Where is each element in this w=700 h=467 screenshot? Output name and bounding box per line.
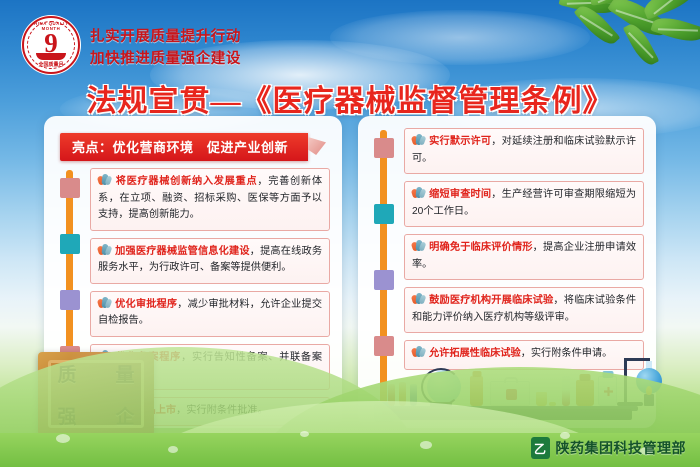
capsule-pill-icon bbox=[412, 346, 425, 357]
orange-flask-icon bbox=[470, 376, 483, 406]
slogan-line-1: 扎实开展质量提升行动 bbox=[90, 26, 241, 48]
ribbon-tail-decoration bbox=[308, 137, 326, 155]
flask-cap bbox=[472, 371, 481, 377]
white-medicine-bottle-icon bbox=[598, 376, 617, 406]
capsule-pill-icon bbox=[412, 187, 425, 198]
flask-on-stand-icon bbox=[624, 358, 666, 406]
policy-item-lead: 优化审批程序 bbox=[115, 299, 177, 310]
emblem-chinese-text: 全国质量月 bbox=[24, 61, 78, 68]
policy-item-lead: 加强医疗器械监管信息化建设 bbox=[115, 246, 250, 257]
highlight-ribbon-label: 亮点：优化营商环境 促进产业创新 bbox=[60, 133, 308, 161]
seal-characters: 质 量 强 企 bbox=[38, 352, 154, 436]
policy-item-card: 明确免于临床评价情形，提高企业注册申请效率。 bbox=[404, 234, 644, 280]
kit-cross-icon bbox=[506, 389, 517, 400]
capsule-pill-icon bbox=[98, 244, 111, 255]
right-item-list: 实行默示许可，对延续注册和临床试验默示许可。缩短审查时间，生产经营许可审查期限缩… bbox=[404, 128, 644, 377]
emblem-swoosh bbox=[36, 53, 66, 60]
policy-item-lead: 实行默示许可 bbox=[429, 136, 491, 147]
flame-icon bbox=[646, 386, 652, 395]
globe-icon bbox=[424, 370, 466, 406]
timeline-node bbox=[374, 138, 394, 158]
policy-item-lead: 明确免于临床评价情形 bbox=[429, 242, 533, 253]
green-leaves-decoration bbox=[556, 0, 700, 78]
seal-char-1: 质 bbox=[57, 360, 76, 387]
stone-seal-decoration: 质 量 强 企 bbox=[38, 352, 154, 436]
burner bbox=[644, 394, 654, 406]
capsule-pill-icon bbox=[412, 240, 425, 251]
timeline-node bbox=[374, 204, 394, 224]
globe-arc bbox=[421, 368, 461, 406]
seal-char-3: 强 bbox=[57, 402, 76, 429]
test-tube-icon bbox=[399, 382, 406, 406]
loose-pill-icon bbox=[549, 402, 556, 406]
right-content-panel: 实行默示许可，对延续注册和临床试验默示许可。缩短审查时间，生产经营许可审查期限缩… bbox=[358, 116, 656, 428]
company-logo-icon: 乙 bbox=[531, 437, 550, 459]
slogan-block: 扎实开展质量提升行动 加快推进质量强企建设 bbox=[90, 26, 241, 71]
timeline-node bbox=[374, 336, 394, 356]
policy-item-card: 加强医疗器械监管信息化建设，提高在线政务服务水平，为行政许可、备案等提供便利。 bbox=[90, 238, 330, 284]
highlight-ribbon: 亮点：优化营商环境 促进产业创新 bbox=[60, 133, 308, 161]
policy-item-card: 将医疗器械创新纳入发展重点，完善创新体系，在立项、融资、招标采购、医保等方面予以… bbox=[90, 168, 330, 231]
blood-sample-tube-icon bbox=[562, 376, 570, 406]
policy-item-card: 优化审批程序，减少审批材料，允许企业提交自检报告。 bbox=[90, 291, 330, 337]
stand-base bbox=[617, 402, 643, 406]
capsule-pill-icon bbox=[98, 174, 111, 185]
capsule-pill-icon bbox=[412, 293, 425, 304]
timeline-node bbox=[60, 178, 80, 198]
slogan-line-2: 加快推进质量强企建设 bbox=[90, 48, 241, 70]
bottle-cap bbox=[580, 374, 591, 381]
footer-brand-text: 陕药集团科技管理部 bbox=[556, 438, 687, 458]
bottle-cap bbox=[602, 371, 613, 378]
seal-char-2: 量 bbox=[115, 360, 134, 387]
poster-canvas: CHINA QUALITY MONTH 9 全国质量月 扎实开展质量提升行动 加… bbox=[0, 0, 700, 467]
test-tube-icon bbox=[388, 384, 395, 406]
policy-item-card: 鼓励医疗机构开展临床试验，将临床试验条件和能力评价纳入医疗机构等级评审。 bbox=[404, 287, 644, 333]
china-quality-month-emblem: CHINA QUALITY MONTH 9 全国质量月 bbox=[22, 16, 80, 74]
timeline-node bbox=[60, 234, 80, 254]
amber-medicine-bottle-icon bbox=[576, 380, 594, 406]
page-title: 法规宣贯—《医疗器械监督管理条例》 bbox=[0, 76, 700, 120]
policy-item-card: 缩短审查时间，生产经营许可审查期限缩短为20个工作日。 bbox=[404, 181, 644, 227]
policy-item-lead: 将医疗器械创新纳入发展重点 bbox=[115, 176, 257, 187]
medical-lab-illustration bbox=[376, 358, 638, 420]
first-aid-kit-icon bbox=[490, 381, 530, 406]
pill-cup-icon bbox=[536, 392, 547, 406]
capsule-pill-icon bbox=[98, 297, 111, 308]
test-tube-icon bbox=[410, 384, 417, 406]
policy-item-body: ，实行附条件批准。 bbox=[176, 405, 268, 416]
policy-item-card: 实行默示许可，对延续注册和临床试验默示许可。 bbox=[404, 128, 644, 174]
timeline-node bbox=[60, 290, 80, 310]
stand-pole bbox=[624, 360, 627, 406]
seal-char-4: 企 bbox=[115, 402, 134, 429]
globe-stand bbox=[430, 402, 452, 407]
timeline-node bbox=[374, 270, 394, 290]
bottle-cross-icon bbox=[604, 387, 613, 396]
policy-item-lead: 缩短审查时间 bbox=[429, 189, 491, 200]
footer-brand: 乙 陕药集团科技管理部 bbox=[531, 437, 687, 459]
bench-body bbox=[382, 409, 632, 420]
capsule-pill-icon bbox=[412, 134, 425, 145]
policy-item-lead: 鼓励医疗机构开展临床试验 bbox=[429, 295, 553, 306]
kit-handle bbox=[504, 377, 518, 383]
cloud-decoration bbox=[330, 10, 590, 65]
left-content-panel: 亮点：优化营商环境 促进产业创新 将医疗器械创新纳入发展重点，完善创新体系，在立… bbox=[44, 116, 342, 428]
